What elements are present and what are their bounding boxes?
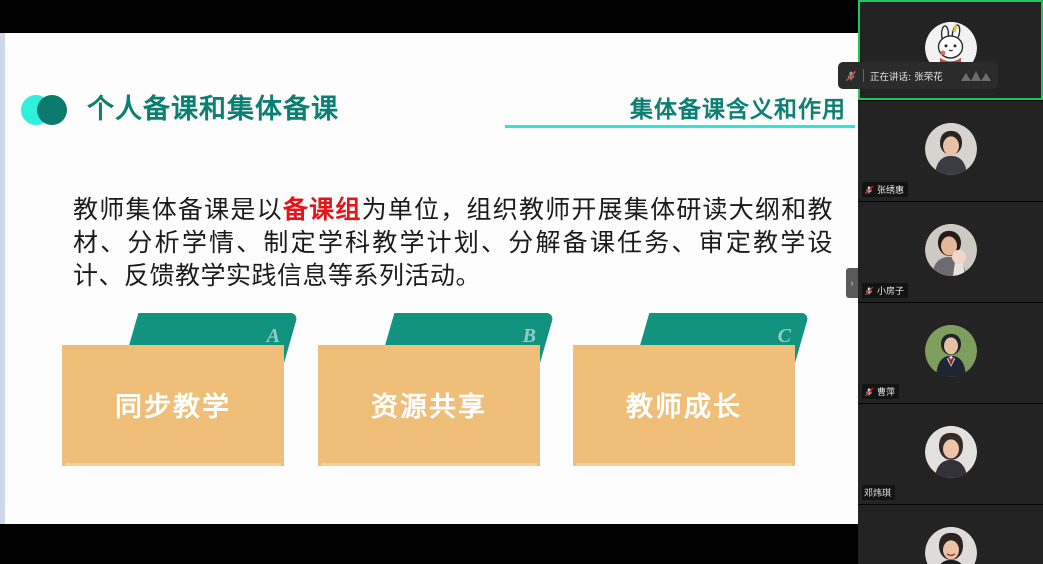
card-label: 资源共享 [318, 385, 540, 424]
participant-tile[interactable]: 曹萍 [858, 303, 1043, 404]
avatar [925, 426, 977, 478]
avatar [925, 527, 977, 564]
mic-muted-icon [864, 286, 874, 296]
card-bottom-rule [576, 463, 792, 466]
subtitle-underline [505, 125, 855, 128]
participant-name-chip: 小房子 [862, 283, 908, 298]
participant-name: 邓炜琪 [864, 486, 891, 499]
audio-wave-icon [961, 70, 991, 82]
slide-title: 个人备课和集体备课 [87, 93, 339, 127]
participant-name-chip: 邓炜琪 [862, 485, 895, 500]
slide-body-paragraph: 教师集体备课是以备课组为单位，组织教师开展集体研读大纲和教材、分析学情、制定学科… [73, 193, 833, 292]
participant-tile[interactable]: ⌄ [858, 505, 1043, 564]
slide-subtitle: 集体备课含义和作用 [630, 95, 846, 125]
shared-screen-stage[interactable]: 个人备课和集体备课 集体备课含义和作用 教师集体备课是以备课组为单位，组织教师开… [0, 0, 858, 564]
avatar [925, 123, 977, 175]
screen-share-meeting-window: 个人备课和集体备课 集体备课含义和作用 教师集体备课是以备课组为单位，组织教师开… [0, 0, 1043, 564]
active-speaker-toast: 正在讲话: 张荣花 [838, 62, 998, 89]
mic-muted-icon [864, 387, 874, 397]
feature-card: A 同步教学 [62, 313, 284, 471]
participant-tile[interactable]: 小房子 [858, 202, 1043, 303]
feature-card: B 资源共享 [318, 313, 540, 471]
participant-name-chip: 张绣惠 [862, 182, 908, 197]
mic-muted-icon [864, 185, 874, 195]
participant-name: 小房子 [877, 284, 904, 297]
sidebar-collapse-handle[interactable]: › [846, 268, 858, 298]
participant-tile[interactable]: 张绣惠 [858, 101, 1043, 202]
participant-name: 张绣惠 [877, 183, 904, 196]
feature-card: C 教师成长 [573, 313, 795, 471]
participant-name: 曹萍 [877, 385, 895, 398]
active-speaker-label: 正在讲话: 张荣花 [870, 69, 943, 83]
participant-name-chip: 曹萍 [862, 384, 899, 399]
two-circles-decoration-icon [21, 95, 79, 125]
card-label: 同步教学 [62, 385, 284, 424]
body-text-part-1: 教师集体备课是以 [73, 195, 283, 224]
mic-muted-icon [845, 70, 857, 82]
body-text-highlight: 备课组 [283, 195, 362, 224]
slide-header: 个人备课和集体备课 集体备课含义和作用 [5, 33, 858, 101]
card-bottom-rule [321, 463, 537, 466]
card-bottom-rule [65, 463, 281, 466]
avatar [925, 325, 977, 377]
avatar [925, 224, 977, 276]
divider [863, 69, 864, 82]
card-label: 教师成长 [573, 385, 795, 424]
presentation-slide[interactable]: 个人备课和集体备课 集体备课含义和作用 教师集体备课是以备课组为单位，组织教师开… [5, 33, 858, 524]
participant-tile[interactable]: 邓炜琪 [858, 404, 1043, 505]
chevron-right-icon[interactable]: › [851, 278, 854, 288]
